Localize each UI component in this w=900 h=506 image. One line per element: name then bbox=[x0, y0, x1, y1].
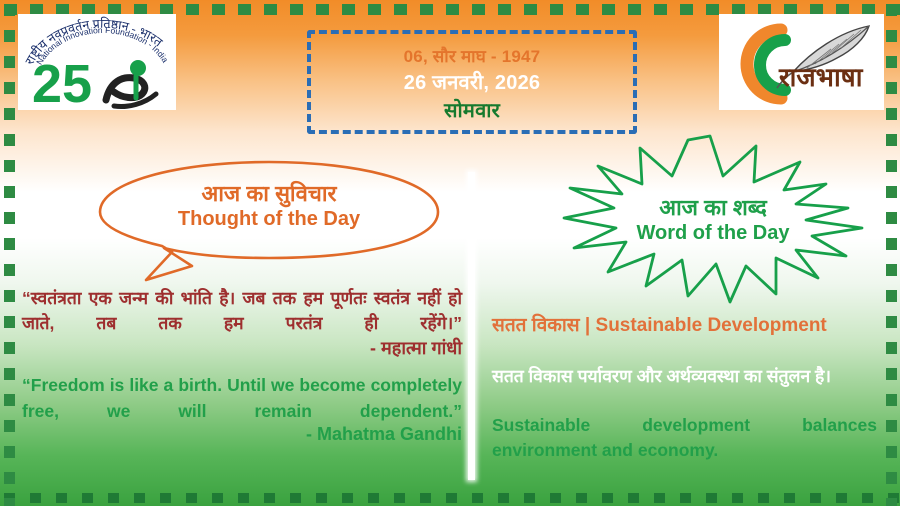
word-title-separator: | bbox=[585, 315, 590, 336]
thought-quote-hindi: “स्वतंत्रता एक जन्म की भांति है। जब तक ह… bbox=[22, 286, 462, 337]
thought-author-english: - Mahatma Gandhi bbox=[22, 424, 462, 445]
rajbhasha-logo-icon: राजभाषा bbox=[719, 14, 884, 110]
rajbhasha-logo: राजभाषा bbox=[719, 14, 884, 110]
column-divider bbox=[468, 172, 475, 480]
svg-text:राजभाषा: राजभाषा bbox=[778, 63, 864, 92]
word-heading: आज का शब्द Word of the Day bbox=[560, 194, 866, 246]
frame-border-bottom bbox=[0, 488, 900, 506]
word-heading-hindi: आज का शब्द bbox=[560, 194, 866, 221]
svg-text:25: 25 bbox=[32, 54, 92, 110]
national-innovation-foundation-logo: राष्ट्रीय नवप्रवर्तन प्रतिष्ठान - भारत N… bbox=[18, 14, 176, 110]
word-title-hindi: सतत विकास bbox=[492, 315, 580, 336]
gregorian-date: 26 जनवरी, 2026 bbox=[404, 68, 540, 95]
word-title: सतत विकास | Sustainable Development bbox=[492, 311, 884, 337]
word-starburst: आज का शब्द Word of the Day bbox=[560, 132, 866, 304]
saka-date: 06, सौर माघ - 1947 bbox=[404, 44, 541, 67]
thought-speech-bubble: आज का सुविचार Thought of the Day bbox=[88, 158, 450, 283]
frame-border-left bbox=[0, 0, 18, 506]
nif-logo-icon: राष्ट्रीय नवप्रवर्तन प्रतिष्ठान - भारत N… bbox=[18, 14, 176, 110]
frame-border-right bbox=[882, 0, 900, 506]
daily-thought-poster: राष्ट्रीय नवप्रवर्तन प्रतिष्ठान - भारत N… bbox=[0, 0, 900, 506]
word-title-english: Sustainable Development bbox=[596, 315, 827, 336]
thought-quote-english: “Freedom is like a birth. Until we becom… bbox=[22, 372, 462, 425]
word-definition-english: Sustainable development balances environ… bbox=[492, 413, 877, 464]
thought-heading-english: Thought of the Day bbox=[88, 207, 450, 232]
weekday-label: सोमवार bbox=[444, 96, 500, 123]
word-definition-hindi: सतत विकास पर्यावरण और अर्थव्यवस्था का सं… bbox=[492, 364, 877, 389]
thought-heading-hindi: आज का सुविचार bbox=[88, 180, 450, 207]
word-heading-english: Word of the Day bbox=[560, 221, 866, 246]
thought-author-hindi: - महात्मा गांधी bbox=[22, 336, 462, 360]
date-panel: 06, सौर माघ - 1947 26 जनवरी, 2026 सोमवार bbox=[307, 30, 637, 134]
thought-heading: आज का सुविचार Thought of the Day bbox=[88, 180, 450, 232]
